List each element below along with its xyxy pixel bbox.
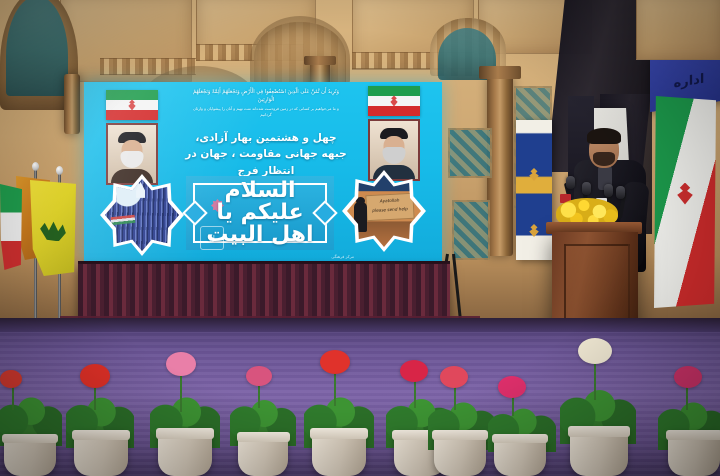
plant-bloom xyxy=(166,352,196,376)
iran-flag-icon-left xyxy=(106,90,158,120)
speaker-beard xyxy=(593,152,615,166)
arch-left-inner xyxy=(6,0,68,96)
sign-line2: please send help xyxy=(367,206,413,215)
microphone-head-1 xyxy=(566,176,575,189)
iran-flag-icon-right xyxy=(368,86,420,116)
beard-left xyxy=(121,151,144,168)
column-center-capital xyxy=(304,56,336,65)
cardboard-sign: Ayatollah please send help xyxy=(366,192,415,221)
plant-bloom xyxy=(0,370,22,388)
banner-headline: چهل و هشتمین بهار آزادی، جبهه جهانی مقاو… xyxy=(180,130,352,179)
potted-plant-5 xyxy=(300,344,378,476)
plant-bloom xyxy=(246,366,272,386)
microphone-head-3 xyxy=(604,184,613,197)
small-iran-flag-left xyxy=(0,184,22,270)
led-stage-banner: وَنُرِيدُ أَن نَّمُنَّ عَلَى الَّذِينَ ا… xyxy=(84,82,442,264)
flag-pole-orange-finial xyxy=(32,162,39,171)
flower-pot xyxy=(570,426,628,476)
speaker-hair xyxy=(587,128,621,144)
ceremonial-banner-flag xyxy=(516,120,552,260)
beard-right xyxy=(383,147,406,164)
banner-headline-line2: جبهه جهانی مقاومت ، جهان در انتظار فرج xyxy=(180,146,352,179)
flower-pot xyxy=(312,428,366,476)
khamenei-portrait-block xyxy=(368,86,420,181)
quran-verse-arabic: وَنُرِيدُ أَن نَّمُنَّ عَلَى الَّذِينَ ا… xyxy=(193,89,339,103)
top-right-banner-text: اداره xyxy=(650,68,720,95)
crowd-photo xyxy=(105,179,179,251)
wall-panel-corner-right xyxy=(636,0,720,60)
microphone-head-2 xyxy=(582,182,591,195)
masked-figure xyxy=(354,202,367,232)
column-far-left xyxy=(64,74,80,134)
flower-pot xyxy=(74,430,128,476)
iran-flag-large xyxy=(654,96,716,308)
banner-seal-text: مرکز فرهنگی xyxy=(331,254,354,260)
plant-stem xyxy=(414,378,416,408)
potted-plant-4 xyxy=(228,360,300,476)
potted-plant-8 xyxy=(484,372,560,476)
potted-plant-9 xyxy=(556,330,640,476)
potted-plant-1 xyxy=(0,368,66,476)
screenshot-scene: اداره وَنُرِيدُ أَن نَّم xyxy=(0,0,720,476)
plant-bloom xyxy=(80,364,110,388)
quran-verse: وَنُرِيدُ أَن نَّمُنَّ عَلَى الَّذِينَ ا… xyxy=(192,88,340,118)
banner-headline-line1: چهل و هشتمین بهار آزادی، xyxy=(180,130,352,146)
right-star-frame: Ayatollah please send help xyxy=(342,170,426,252)
plant-bloom xyxy=(674,366,702,388)
flower-pot xyxy=(668,430,720,476)
potted-plant-3 xyxy=(146,342,224,476)
khomeini-portrait xyxy=(106,123,158,185)
sign-photo: Ayatollah please send help xyxy=(347,175,421,247)
left-star-frame xyxy=(100,174,184,256)
khomeini-portrait-block xyxy=(106,90,158,185)
podium-front-panel xyxy=(564,244,630,326)
plant-stem xyxy=(180,372,182,412)
flower-pot xyxy=(158,428,212,476)
tile-panel-right-upper xyxy=(448,128,492,178)
flower-pot xyxy=(238,432,288,476)
right-star-photo: Ayatollah please send help xyxy=(347,175,421,247)
plant-stem xyxy=(334,370,336,406)
microphone-head-4 xyxy=(616,186,625,199)
plant-bloom xyxy=(440,366,468,388)
flower-pot xyxy=(434,430,486,476)
khamenei-portrait xyxy=(368,119,420,181)
plant-bloom xyxy=(578,338,612,364)
column-right-capital xyxy=(479,66,521,79)
plant-bloom xyxy=(320,350,350,374)
potted-plant-2 xyxy=(62,352,138,476)
plant-stem xyxy=(594,360,596,400)
stage-table-skirt xyxy=(78,264,450,324)
banner-flag-emblem-icon xyxy=(526,168,542,181)
sponsor-logo: ل xyxy=(200,226,224,250)
flower-pot xyxy=(494,434,546,476)
flag-pole-yellow-finial xyxy=(56,166,63,175)
potted-plant-10 xyxy=(656,362,720,476)
tile-panel-right-lower xyxy=(452,200,490,260)
plant-bloom xyxy=(498,376,526,398)
banner-flag-emblem-icon-2 xyxy=(526,224,542,237)
quran-verse-translation: و ما می‌خواهیم بر کسانی که در زمین فرودس… xyxy=(192,106,340,118)
left-star-photo xyxy=(105,179,179,251)
sign-line1: Ayatollah xyxy=(367,197,413,206)
flower-pot xyxy=(4,434,56,476)
